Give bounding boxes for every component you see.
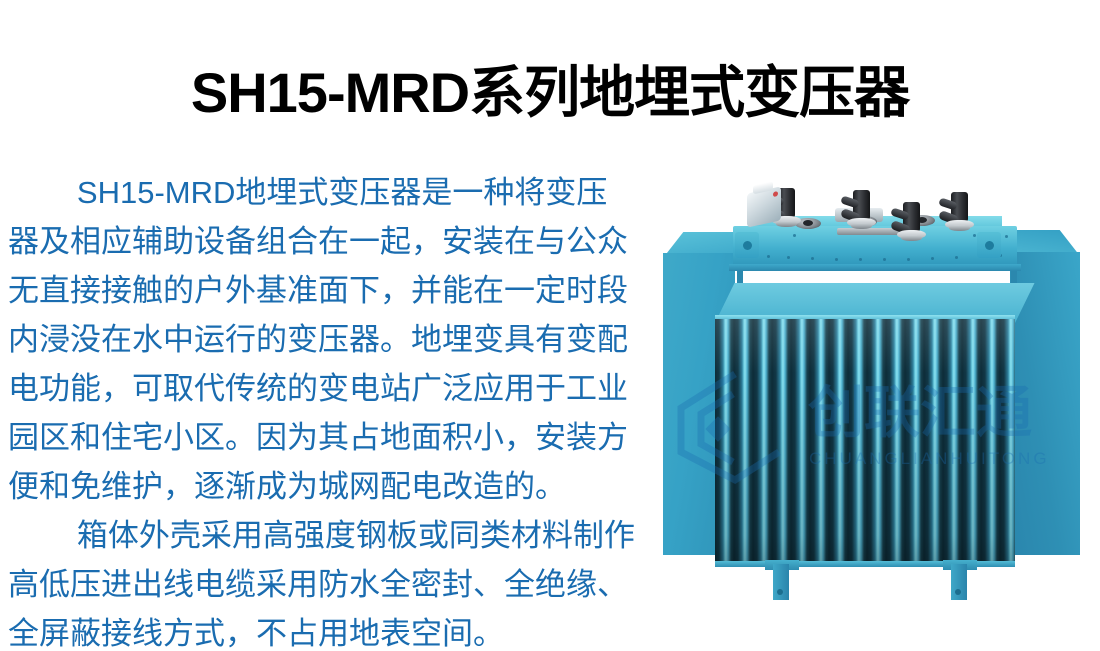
rail-leg bbox=[737, 271, 743, 283]
description-line: 电功能，可取代传统的变电站广泛应用于工业 bbox=[8, 364, 672, 413]
gauge-cap bbox=[753, 181, 773, 194]
gauge-indicator bbox=[773, 191, 778, 197]
lifting-lug bbox=[735, 232, 759, 258]
description-line: 器及相应辅助设备组合在一起，安装在与公众 bbox=[8, 217, 672, 266]
radiator-fins bbox=[715, 283, 1015, 565]
rail-leg bbox=[1011, 271, 1017, 283]
description-line: 箱体外壳采用高强度钢板或同类材料制作 bbox=[8, 511, 672, 560]
description-line: SH15-MRD地埋式变压器是一种将变压 bbox=[8, 168, 672, 217]
bushing bbox=[850, 190, 872, 238]
product-description: SH15-MRD地埋式变压器是一种将变压 器及相应辅助设备组合在一起，安装在与公… bbox=[8, 168, 672, 651]
description-line: 园区和住宅小区。因为其占地面积小，安装方 bbox=[8, 413, 672, 462]
description-line: 高低压进出线电缆采用防水全密封、全绝缘、 bbox=[8, 560, 672, 609]
description-line: 全屏蔽接线方式，不占用地表空间。 bbox=[8, 609, 672, 651]
description-line: 内浸没在水中运行的变压器。地埋变具有变配 bbox=[8, 315, 672, 364]
cover-rail bbox=[729, 264, 1021, 271]
mounting-foot bbox=[951, 564, 967, 600]
product-image: 创联汇通 CHUANGLIANHUITONG bbox=[655, 160, 1100, 620]
description-line: 无直接接触的户外基准面下，并能在一定时段 bbox=[8, 266, 672, 315]
gauge-box bbox=[747, 186, 781, 227]
fin-shading bbox=[715, 319, 1015, 565]
mounting-foot bbox=[773, 564, 789, 600]
description-line: 便和免维护，逐渐成为城网配电改造的。 bbox=[8, 462, 672, 511]
page-title: SH15-MRD系列地埋式变压器 bbox=[0, 62, 1100, 124]
bushing bbox=[900, 202, 922, 250]
lifting-lug bbox=[977, 232, 1001, 258]
bushing bbox=[948, 192, 970, 240]
product-banner: SH15-MRD系列地埋式变压器 SH15-MRD地埋式变压器是一种将变压 器及… bbox=[0, 0, 1100, 651]
